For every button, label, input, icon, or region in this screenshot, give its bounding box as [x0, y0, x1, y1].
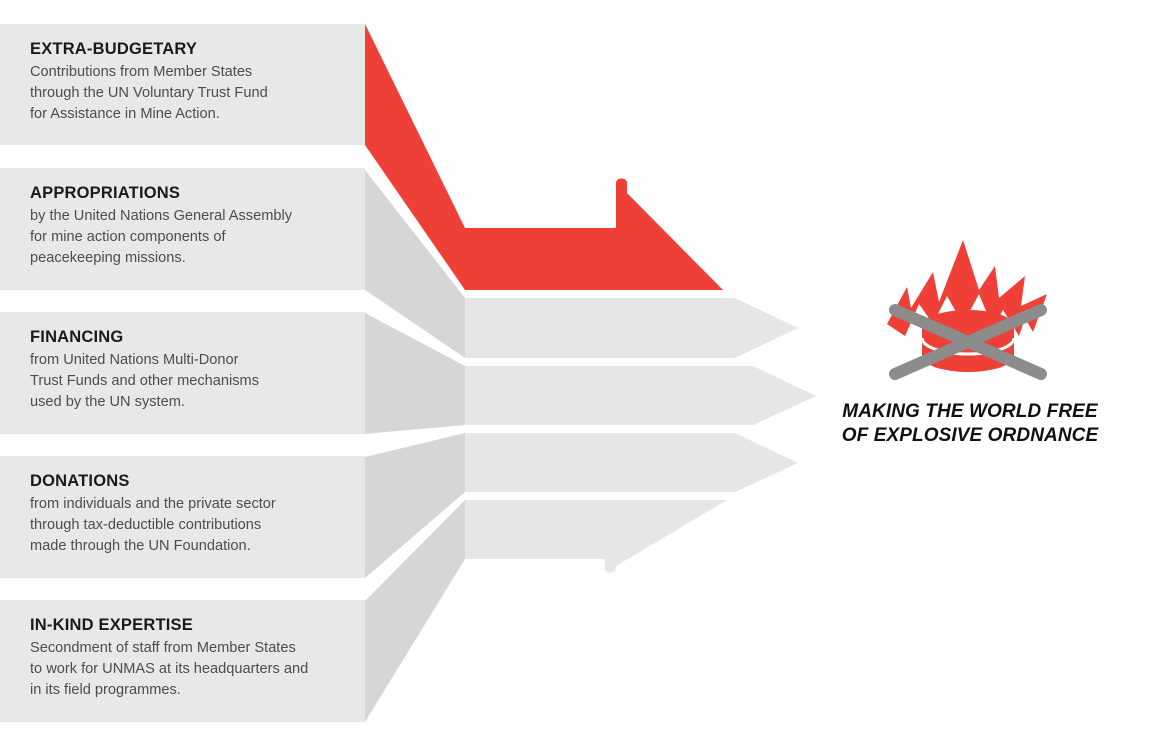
body-line: Secondment of staff from Member States — [30, 640, 296, 656]
body-line: Trust Funds and other mechanisms — [30, 373, 259, 389]
source-card-donations[interactable]: DONATIONS from individuals and the priva… — [0, 456, 365, 578]
body-line: for mine action components of — [30, 229, 226, 245]
band-donations — [465, 433, 798, 492]
band-in-kind-hook — [605, 500, 616, 566]
source-card-body: by the United Nations General Assembly f… — [30, 206, 347, 268]
source-card-in-kind-expertise[interactable]: IN-KIND EXPERTISE Secondment of staff fr… — [0, 600, 365, 722]
source-card-title: APPROPRIATIONS — [30, 182, 347, 204]
logo-tagline: MAKING THE WORLD FREE OF EXPLOSIVE ORDNA… — [820, 400, 1120, 449]
band-appropriations — [465, 298, 798, 358]
source-card-title: EXTRA-BUDGETARY — [30, 38, 347, 60]
body-line: in its field programmes. — [30, 682, 181, 698]
body-line: from United Nations Multi-Donor — [30, 352, 238, 368]
unmas-explosive-ordnance-icon — [875, 232, 1060, 392]
tagline-line-1: MAKING THE WORLD FREE — [820, 400, 1120, 424]
source-card-body: from United Nations Multi-Donor Trust Fu… — [30, 350, 347, 412]
tagline-line-2: OF EXPLOSIVE ORDNANCE — [820, 424, 1120, 448]
body-line: by the United Nations General Assembly — [30, 208, 292, 224]
infographic-canvas: EXTRA-BUDGETARY Contributions from Membe… — [0, 0, 1160, 750]
source-card-extra-budgetary[interactable]: EXTRA-BUDGETARY Contributions from Membe… — [0, 24, 365, 145]
body-line: Contributions from Member States — [30, 64, 252, 80]
body-line: through tax-deductible contributions — [30, 517, 261, 533]
unmas-logo-block: MAKING THE WORLD FREE OF EXPLOSIVE ORDNA… — [820, 232, 1120, 452]
band-in-kind-arrowhead — [616, 500, 727, 566]
source-card-financing[interactable]: FINANCING from United Nations Multi-Dono… — [0, 312, 365, 434]
source-card-body: Secondment of staff from Member States t… — [30, 638, 347, 700]
band-financing — [465, 366, 816, 425]
source-card-body: from individuals and the private sector … — [30, 494, 347, 556]
body-line: made through the UN Foundation. — [30, 538, 251, 554]
source-card-title: IN-KIND EXPERTISE — [30, 614, 347, 636]
source-card-title: DONATIONS — [30, 470, 347, 492]
body-line: for Assistance in Mine Action. — [30, 106, 220, 122]
source-card-appropriations[interactable]: APPROPRIATIONS by the United Nations Gen… — [0, 168, 365, 290]
source-card-title: FINANCING — [30, 326, 347, 348]
body-line: used by the UN system. — [30, 394, 185, 410]
body-line: peacekeeping missions. — [30, 250, 186, 266]
body-line: through the UN Voluntary Trust Fund — [30, 85, 268, 101]
band-extra-budgetary-arrowhead — [616, 182, 723, 290]
source-card-body: Contributions from Member States through… — [30, 62, 347, 124]
body-line: to work for UNMAS at its headquarters an… — [30, 661, 308, 677]
body-line: from individuals and the private sector — [30, 496, 276, 512]
